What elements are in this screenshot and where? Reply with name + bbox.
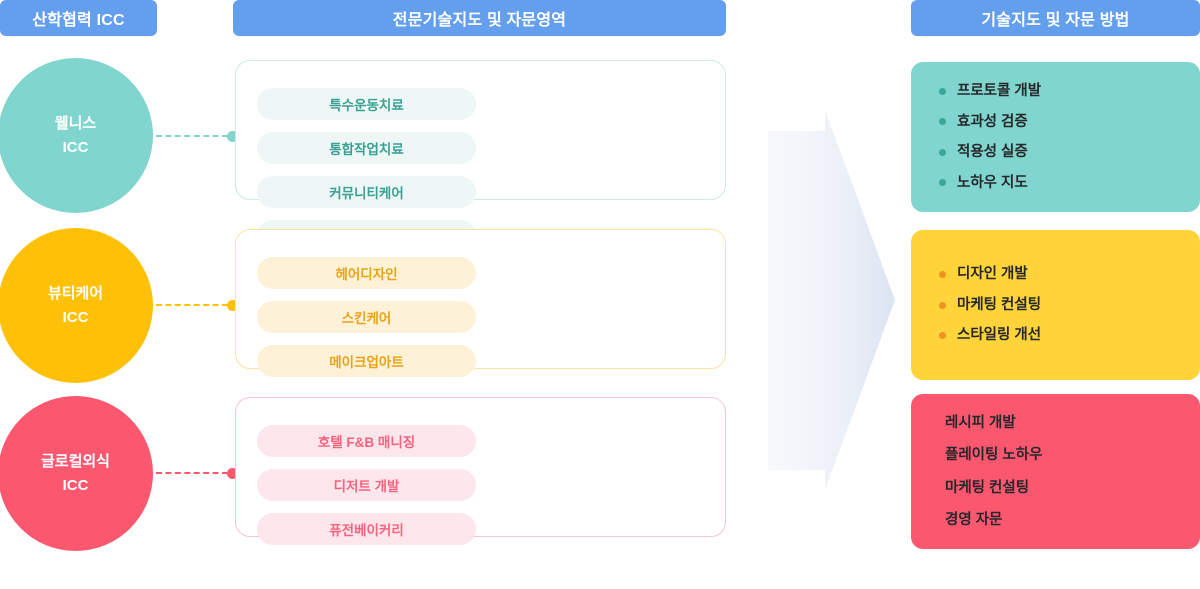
method-label: 노하우 지도 xyxy=(957,176,1028,191)
bullet-icon xyxy=(939,88,946,95)
method-label: 디자인 개발 xyxy=(957,267,1028,282)
diagram-canvas: 산학협력 ICC 전문기술지도 및 자문영역 기술지도 및 자문 방법 웰니스 … xyxy=(0,0,1200,549)
method-item: 디자인 개발 xyxy=(939,267,1200,282)
icc-circle-name: 글로컬외식 xyxy=(41,450,110,473)
method-item: 노하우 지도 xyxy=(939,176,1200,191)
icc-circle-wellness[interactable]: 웰니스 ICC xyxy=(0,58,153,213)
connector-food xyxy=(156,467,238,479)
method-label: 스타일링 개선 xyxy=(957,328,1041,343)
bullet-icon xyxy=(939,118,946,125)
method-item: 레시피 개발 xyxy=(945,416,1200,431)
bullet-icon xyxy=(939,149,946,156)
method-label: 경영 자문 xyxy=(945,513,1002,528)
column-header-right: 기술지도 및 자문 방법 xyxy=(911,0,1200,36)
method-item: 스타일링 개선 xyxy=(939,328,1200,343)
area-pill[interactable]: 커뮤니티케어 xyxy=(257,176,476,208)
area-pill-grid: 특수운동치료 통합작업치료 커뮤니티케어 재활건강용품 xyxy=(257,88,704,252)
icc-circle-name: 뷰티케어 xyxy=(48,282,103,305)
bullet-icon xyxy=(939,179,946,186)
flow-arrow-icon xyxy=(755,105,900,495)
method-label: 적용성 실증 xyxy=(957,145,1028,160)
method-panel-wellness: 프로토콜 개발 효과성 검증 적용성 실증 노하우 지도 xyxy=(911,62,1200,212)
method-item: 프로토콜 개발 xyxy=(939,84,1200,99)
column-header-left: 산학협력 ICC xyxy=(0,0,157,36)
icc-circle-sub: ICC xyxy=(63,306,89,329)
area-pill[interactable]: 헤어디자인 xyxy=(257,257,476,289)
area-card-food: 호텔 F&B 매니징 디저트 개발 퓨전베이커리 xyxy=(235,397,726,537)
bullet-icon xyxy=(939,271,946,278)
method-item: 효과성 검증 xyxy=(939,115,1200,130)
method-label: 효과성 검증 xyxy=(957,115,1028,130)
connector-wellness xyxy=(156,130,238,142)
area-pill[interactable]: 메이크업아트 xyxy=(257,345,476,377)
bullet-icon xyxy=(939,332,946,339)
column-header-middle: 전문기술지도 및 자문영역 xyxy=(233,0,726,36)
method-label: 마케팅 컨설팅 xyxy=(957,298,1041,313)
method-item: 경영 자문 xyxy=(945,513,1200,528)
area-card-beauty: 헤어디자인 스킨케어 메이크업아트 xyxy=(235,229,726,369)
bullet-icon xyxy=(939,302,946,309)
method-panel-food: 레시피 개발 플레이팅 노하우 마케팅 컨설팅 경영 자문 xyxy=(911,394,1200,549)
area-pill[interactable]: 스킨케어 xyxy=(257,301,476,333)
area-pill[interactable]: 특수운동치료 xyxy=(257,88,476,120)
area-pill[interactable]: 퓨전베이커리 xyxy=(257,513,476,545)
icc-circle-beauty[interactable]: 뷰티케어 ICC xyxy=(0,228,153,383)
method-item: 마케팅 컨설팅 xyxy=(939,298,1200,313)
method-label: 레시피 개발 xyxy=(945,416,1016,431)
connector-dashed-line xyxy=(156,472,228,474)
method-item: 플레이팅 노하우 xyxy=(945,448,1200,463)
area-pill[interactable]: 통합작업치료 xyxy=(257,132,476,164)
method-panel-beauty: 디자인 개발 마케팅 컨설팅 스타일링 개선 xyxy=(911,230,1200,380)
area-pill[interactable]: 호텔 F&B 매니징 xyxy=(257,425,476,457)
area-card-wellness: 특수운동치료 통합작업치료 커뮤니티케어 재활건강용품 xyxy=(235,60,726,200)
icc-circle-food[interactable]: 글로컬외식 ICC xyxy=(0,396,153,551)
icc-circle-sub: ICC xyxy=(63,136,89,159)
method-item: 적용성 실증 xyxy=(939,145,1200,160)
area-pill[interactable]: 디저트 개발 xyxy=(257,469,476,501)
connector-dashed-line xyxy=(156,135,228,137)
method-label: 프로토콜 개발 xyxy=(957,84,1041,99)
method-label: 플레이팅 노하우 xyxy=(945,448,1042,463)
area-pill-grid: 호텔 F&B 매니징 디저트 개발 퓨전베이커리 xyxy=(257,425,704,589)
method-item: 마케팅 컨설팅 xyxy=(945,481,1200,496)
method-label: 마케팅 컨설팅 xyxy=(945,481,1029,496)
connector-beauty xyxy=(156,299,238,311)
connector-dashed-line xyxy=(156,304,228,306)
icc-circle-name: 웰니스 xyxy=(55,112,96,135)
icc-circle-sub: ICC xyxy=(63,474,89,497)
